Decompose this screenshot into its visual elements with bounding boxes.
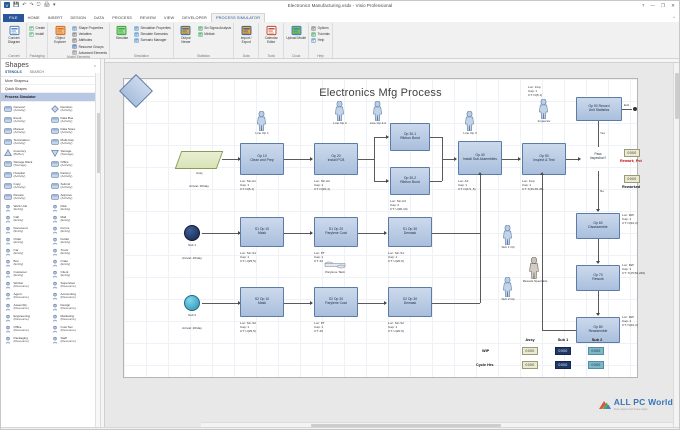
- activity-s1op20[interactable]: S1 Op 20 Parylene Coat: [314, 217, 358, 247]
- resource-groups-button[interactable]: Resource Groups: [72, 44, 107, 49]
- connector: [358, 303, 386, 304]
- options-button[interactable]: Options: [311, 26, 330, 31]
- connector: [598, 171, 599, 211]
- folder-entity-icon: [51, 237, 59, 246]
- activity-s2op20[interactable]: S2 Op 20 Parylene Coat: [314, 287, 358, 317]
- ribbon-tab-process-simulator[interactable]: PROCESS SIMULATOR: [211, 13, 265, 22]
- ribbon-tab-home[interactable]: HOME: [24, 14, 44, 22]
- stencil-item-storage-rack[interactable]: Storage Rack(Storage): [4, 159, 51, 170]
- resource-inspector[interactable]: [538, 99, 549, 120]
- window-title: Electronics Manufacturing.vsdx - Visio P…: [1, 3, 679, 8]
- stencil-item-agent-resource[interactable]: Agent(Resource): [4, 291, 51, 302]
- drawing-page[interactable]: Electronics Mfg Process Assy Arrival: 20…: [123, 78, 638, 378]
- object-explorer-label: Object Explorer: [50, 37, 70, 44]
- connector: [542, 330, 576, 331]
- ribbon-tab-strip: FILEHOMEINSERTDESIGNDATAPROCESSREVIEWVIE…: [1, 13, 679, 22]
- engineering-resource-icon: [4, 314, 12, 323]
- shapes-scrollbar[interactable]: [95, 73, 100, 427]
- packaging-resource-icon: [4, 336, 12, 345]
- vertical-ruler: [101, 59, 105, 427]
- stencil-item-forms-entity[interactable]: Forms(Entity): [51, 225, 98, 236]
- staff-resource-icon: [51, 336, 59, 345]
- stencil-item-approve-activity[interactable]: Approve(Activity): [51, 192, 98, 203]
- help-button[interactable]: Help: [311, 38, 330, 43]
- stencil-item-folder-entity[interactable]: Folder(Entity): [51, 236, 98, 247]
- agent-resource-icon: [4, 292, 12, 301]
- exit-point-1: [633, 107, 637, 111]
- ribbon-small-buttons: OptionsTutorialsHelp: [311, 24, 330, 43]
- ribbon-group-packaging: CreateInstallPackaging: [27, 23, 48, 58]
- ribbon-group-label: Data: [236, 54, 256, 59]
- source-sub1-shape[interactable]: [184, 225, 200, 241]
- stencil-item-call-entity[interactable]: Call(Entity): [4, 214, 51, 225]
- stencil-item-storage[interactable]: Storage(Storage): [51, 148, 98, 159]
- ribbon-tab-data[interactable]: DATA: [90, 14, 108, 22]
- manual-activity-icon: [4, 127, 12, 136]
- stencil-item-design-resource[interactable]: Design(Resource): [51, 302, 98, 313]
- metrics-cyclehrs-sub1: 0000: [555, 361, 571, 369]
- stencil-item-crate-entity[interactable]: Crate(Entity): [51, 258, 98, 269]
- metrics-row-wip-label: WIP: [482, 349, 489, 353]
- stencil-item-supervisor-resource[interactable]: Supervisor(Resource): [51, 280, 98, 291]
- connector: [480, 233, 481, 303]
- stencil-item-customer-entity[interactable]: Customer(Entity): [4, 269, 51, 280]
- ribbon-tab-file[interactable]: FILE: [3, 14, 24, 22]
- ribbon-group-label: Simulation: [112, 54, 171, 59]
- shapes-panel-header: Shapes ×: [1, 59, 100, 70]
- ribbon-group-model-elements: Object ExplorerShape PropertiesVariables…: [48, 23, 110, 58]
- stencil-item-engineering-resource[interactable]: Engineering(Resource): [4, 313, 51, 324]
- resource-line-op-3-label: Line Op 3: [450, 131, 490, 135]
- stencil-item-termination-activity[interactable]: Termination(Activity): [4, 137, 51, 148]
- stencil-item-data-store-activity[interactable]: Data Store(Activity): [51, 126, 98, 137]
- calendar-button[interactable]: Calendar Editor: [261, 24, 281, 44]
- stencil-item-office-resource[interactable]: Office(Resource): [4, 324, 51, 335]
- calendar-label: Calendar Editor: [261, 37, 281, 44]
- connector-arrow: [310, 231, 313, 235]
- ribbon-tab-review[interactable]: REVIEW: [136, 14, 160, 22]
- resource-inspector-label: Inspector: [524, 119, 564, 123]
- stencil-item-review-activity[interactable]: Review(Activity): [4, 192, 51, 203]
- ribbon-tab-design[interactable]: DESIGN: [67, 14, 91, 22]
- ribbon-tab-view[interactable]: VIEW: [160, 14, 178, 22]
- connector: [358, 233, 386, 234]
- tutorials-button[interactable]: Tutorials: [311, 32, 330, 37]
- minitab-button[interactable]: Minitab: [198, 32, 231, 37]
- approve-activity-icon: [51, 193, 59, 202]
- stencil-item-mail-entity[interactable]: Mail(Entity): [51, 214, 98, 225]
- connector: [430, 181, 442, 182]
- activity-op80-line2: Reassemble: [589, 329, 608, 333]
- activity-op20-props: Loc: Stn A2 Cap: 1 CT: N(40,4): [314, 179, 330, 191]
- termination-activity-icon: [4, 138, 12, 147]
- review-activity-icon: [4, 193, 12, 202]
- activity-op40-line2: Install Sub Assemblies: [463, 157, 497, 161]
- source-sub2-shape[interactable]: [184, 295, 200, 311]
- source-assy-arrival: Arrival: 20/day: [164, 184, 234, 188]
- connector-arrow: [596, 261, 600, 264]
- activity-s1op30[interactable]: S1 Op 30 Demask: [388, 217, 432, 247]
- convert-diagram-button[interactable]: Convert Diagram: [4, 24, 24, 44]
- activity-op70[interactable]: Op 70 Rework: [576, 265, 620, 291]
- resource-rework-specialist-label: Rework Specialist: [514, 279, 556, 283]
- activity-op90-line2: Unit Statistics: [589, 108, 610, 112]
- connector: [374, 137, 375, 181]
- connector-arrow: [596, 313, 600, 316]
- stencil-item-office-activity[interactable]: Office(Activity): [51, 159, 98, 170]
- simulation-properties-button[interactable]: Simulation Properties: [134, 26, 171, 31]
- parylene-tank-shape[interactable]: [324, 261, 346, 269]
- source-sub1-arrival: Arrival: 20/day: [157, 256, 227, 260]
- activity-op60[interactable]: Op 60 Disassemble: [576, 213, 620, 239]
- event-activity-icon: [4, 116, 12, 125]
- stencil-item-client-entity[interactable]: Client(Entity): [51, 269, 98, 280]
- close-button[interactable]: ✕: [671, 3, 675, 9]
- connector: [358, 159, 374, 160]
- resource-sub-2-op[interactable]: [502, 277, 513, 298]
- decision-no-label: No: [600, 189, 604, 193]
- connector: [430, 137, 442, 138]
- connector: [598, 291, 599, 315]
- connector-arrow: [386, 135, 389, 139]
- hospital-activity-icon: [4, 171, 12, 180]
- shape-properties-button[interactable]: Shape Properties: [72, 26, 107, 31]
- ribbon-small-buttons: Six Sigma AnalysisMinitab: [198, 24, 231, 37]
- shapes-panel-title: Shapes: [5, 62, 29, 69]
- ribbon-small-buttons: Shape PropertiesVariablesAttributesResou…: [72, 24, 107, 55]
- stencil-item-assembly-resource[interactable]: Assembly(Resource): [4, 302, 51, 313]
- canvas-vscroll-thumb[interactable]: [675, 73, 679, 119]
- stencil-row-process-simulator[interactable]: Process Simulator: [1, 93, 100, 101]
- canvas-vertical-scrollbar[interactable]: [673, 63, 679, 427]
- mail-entity-icon: [51, 215, 59, 224]
- connector-arrow: [518, 157, 521, 161]
- horizontal-ruler: [101, 59, 679, 63]
- decision-label: Pass Inspection?: [582, 153, 614, 160]
- activity-s2op10-line2: Mask: [258, 301, 266, 305]
- car-entity-icon: [4, 248, 12, 257]
- activity-op20-line2: Install PCB: [328, 158, 345, 162]
- activity-s2op10[interactable]: S2 Op 10 Mask: [240, 287, 284, 317]
- stencil-grid[interactable]: General(Activity)Decision(Activity)Event…: [1, 102, 100, 346]
- activity-op30-2[interactable]: Op 30-2 Ribbon Bond: [390, 167, 430, 195]
- watermark: ALL PC World Free Apps Get Free Apps: [598, 397, 673, 411]
- data-store-activity-icon: [51, 127, 59, 136]
- ribbon-small-buttons: CreateInstall: [29, 24, 45, 37]
- stencil-item-manual-activity[interactable]: Manual(Activity): [4, 126, 51, 137]
- stencil-item-accounting-resource[interactable]: Accounting(Resource): [51, 291, 98, 302]
- metrics-cyclehrs-sub2: 0000: [588, 361, 604, 369]
- connector-arrow: [310, 157, 313, 161]
- resource-line-op-2-label: Line Op 2: [320, 121, 360, 125]
- storage-icon: [51, 149, 59, 158]
- attributes-button[interactable]: Attributes: [72, 38, 107, 43]
- title-bar: V 💾 ↶ ↷ ⎋ 🖨 ▾ Electronics Manufacturing.…: [1, 1, 679, 13]
- box-entity-icon: [4, 259, 12, 268]
- stencil-item-work-unit-entity[interactable]: Work Unit(Entity): [4, 203, 51, 214]
- work-area: Shapes × STENCILSSEARCH More Shapes ▸Qui…: [1, 59, 679, 427]
- data-bus-activity-icon: [51, 116, 59, 125]
- connector: [542, 175, 543, 330]
- stencil-item-decision-activity[interactable]: Decision(Activity): [51, 104, 98, 115]
- source-assy-label: Assy: [172, 171, 227, 175]
- copy-activity-icon: [4, 182, 12, 191]
- activity-s2op20-line2: Parylene Coat: [325, 301, 347, 305]
- resource-line-op-2[interactable]: [334, 101, 345, 122]
- ribbon-group-convert: Convert DiagramConvert: [2, 23, 27, 58]
- stencil-item-inventory-buffer[interactable]: Inventory(Buffer): [4, 148, 51, 159]
- activity-op70-line2: Rework: [592, 277, 604, 281]
- stencil-item-truck-entity[interactable]: Truck(Entity): [51, 247, 98, 258]
- connector: [284, 303, 312, 304]
- stencil-item-copy-activity[interactable]: Copy(Activity): [4, 181, 51, 192]
- assembly-resource-icon: [4, 303, 12, 312]
- office-resource-icon: [4, 325, 12, 334]
- stencil-item-worker-resource[interactable]: Worker(Resource): [4, 280, 51, 291]
- play-label: Simulate: [116, 37, 128, 41]
- activity-op90-props: Loc: Insp Cap: 1 CT: N(5,1): [528, 85, 542, 97]
- exit-label-1: Exit: [624, 103, 629, 107]
- activity-op20[interactable]: Op 20 Install PCB: [314, 143, 358, 175]
- help-button[interactable]: ?: [642, 3, 645, 9]
- stencil-item-submit-activity[interactable]: Submit(Activity): [51, 181, 98, 192]
- restore-button[interactable]: ❐: [661, 3, 665, 9]
- ribbon-group-cloud: Upload ModelCloud: [284, 23, 309, 58]
- scenario-manager-button[interactable]: Scenario Manager: [134, 38, 171, 43]
- import-export-label: Import / Export: [236, 37, 256, 44]
- resource-rework-specialist[interactable]: [528, 257, 540, 280]
- play-button[interactable]: Simulate: [112, 24, 132, 41]
- stencil-item-car-entity[interactable]: Car(Entity): [4, 247, 51, 258]
- resource-sub-1-op[interactable]: [502, 225, 513, 246]
- shapes-panel-tabs[interactable]: STENCILSSEARCH: [1, 70, 100, 77]
- parylene-tank-label: Parylene Tank: [310, 270, 360, 274]
- marketing-resource-icon: [51, 314, 59, 323]
- metrics-row-cyclehrs-label: Cycle Hrs: [476, 363, 494, 367]
- decision-yes-label: Yes: [600, 131, 605, 135]
- ribbon-group-label: Packaging: [29, 54, 45, 59]
- connector: [432, 303, 480, 304]
- connector: [598, 239, 599, 263]
- create-package-button[interactable]: Create: [29, 26, 45, 31]
- truck-entity-icon: [51, 248, 59, 257]
- connector-arrow: [454, 157, 457, 161]
- ribbon-tabs[interactable]: FILEHOMEINSERTDESIGNDATAPROCESSREVIEWVIE…: [1, 13, 679, 22]
- kpi-reworked-label: Reworked: [622, 185, 640, 189]
- metrics-cyclehrs-assy: 0000: [522, 361, 538, 369]
- install-package-button[interactable]: Install: [29, 32, 45, 37]
- metrics-col-sub2: Sub 2: [586, 337, 608, 342]
- resource-line-op-3[interactable]: [464, 111, 475, 132]
- resource-line-op-1-label: Line Op 1: [242, 131, 282, 135]
- visio-window: V 💾 ↶ ↷ ⎋ 🖨 ▾ Electronics Manufacturing.…: [0, 0, 680, 430]
- crate-entity-icon: [51, 259, 59, 268]
- ribbon-group-label: Tools: [261, 54, 281, 59]
- activity-op30-1[interactable]: Op 30-1 Ribbon Bond: [390, 123, 430, 151]
- connector-arrow: [310, 301, 313, 305]
- activity-op70-props: Loc: RW Cap: 1 CT: T(15,50,240): [622, 263, 645, 275]
- activity-op10[interactable]: Op 10 Clean and Prep: [240, 143, 284, 175]
- stencil-item-packaging-resource[interactable]: Packaging(Resource): [4, 335, 51, 346]
- customer-entity-icon: [4, 270, 12, 279]
- accounting-resource-icon: [51, 292, 59, 301]
- activity-s1op10[interactable]: S1 Op 10 Mask: [240, 217, 284, 247]
- activity-s1op10-props: Loc: Stn S1 Cap: 1 CT: U(25,5): [240, 251, 256, 263]
- decision-pass-inspection[interactable]: [119, 74, 153, 108]
- six-sigma-button[interactable]: Six Sigma Analysis: [198, 26, 231, 31]
- metrics-wip-assy: 0000: [522, 347, 538, 355]
- ribbon-group-data: Import / ExportData: [234, 23, 259, 58]
- connector: [432, 233, 480, 234]
- stencil-item-general-activity[interactable]: General(Activity): [4, 104, 51, 115]
- convert-diagram-label: Convert Diagram: [4, 37, 24, 44]
- order-entity-icon: [4, 237, 12, 246]
- stencil-item-box-entity[interactable]: Box(Entity): [4, 258, 51, 269]
- activity-s1op20-line2: Parylene Coat: [325, 231, 347, 235]
- activity-s2op30-line2: Demask: [404, 301, 416, 305]
- allpcworld-logo-icon: [598, 399, 612, 410]
- shapes-tab-search[interactable]: SEARCH: [30, 70, 44, 74]
- shapes-scrollbar-thumb[interactable]: [97, 113, 100, 173]
- worker-resource-icon: [4, 281, 12, 290]
- metrics-wip-sub2: 0000: [588, 347, 604, 355]
- ribbon-tab-insert[interactable]: INSERT: [44, 14, 67, 22]
- source-assy-shape[interactable]: [175, 151, 224, 169]
- activity-s2op30[interactable]: S2 Op 30 Demask: [388, 287, 432, 317]
- connector: [284, 233, 312, 234]
- activity-op30-1-line2: Ribbon Bond: [400, 136, 420, 140]
- connector: [480, 175, 481, 233]
- output-viewer-button[interactable]: Output Viewer: [176, 24, 196, 44]
- close-icon[interactable]: ×: [94, 63, 96, 68]
- stencil-item-factory-activity[interactable]: Factory(Activity): [51, 170, 98, 181]
- stencil-item-cust-svc-resource[interactable]: Cust Svc(Resource): [51, 324, 98, 335]
- inventory-buffer-icon: [4, 149, 12, 158]
- connector-arrow: [578, 157, 581, 161]
- forms-entity-icon: [51, 226, 59, 235]
- stencil-item-disk-entity[interactable]: Disk(Entity): [51, 203, 98, 214]
- stencil-item-document-entity[interactable]: Document(Entity): [4, 225, 51, 236]
- connector: [202, 233, 240, 234]
- disk-entity-icon: [51, 204, 59, 213]
- activity-op80-props: Loc: RW Cap: 1 CT: N(10,2): [622, 315, 638, 327]
- activity-op90[interactable]: Op 90 Record Unit Statistics: [576, 97, 622, 121]
- connector: [284, 159, 312, 160]
- multi-cap-activity-icon: [51, 138, 59, 147]
- source-sub1-label: Sub 1: [172, 243, 212, 247]
- activity-op10-props: Loc: Stn A1 Cap: 1 CT: N(5,1): [240, 179, 256, 191]
- stencil-item-event-activity[interactable]: Event(Activity): [4, 115, 51, 126]
- call-entity-icon: [4, 215, 12, 224]
- resource-line-op-2-2[interactable]: [372, 101, 383, 122]
- stencil-item-staff-resource[interactable]: Staff(Resource): [51, 335, 98, 346]
- canvas[interactable]: Electronics Mfg Process Assy Arrival: 20…: [101, 59, 679, 427]
- activity-s1op30-line2: Demask: [404, 231, 416, 235]
- stencil-item-order-entity[interactable]: Order(Entity): [4, 236, 51, 247]
- connector-arrow: [384, 231, 387, 235]
- stencil-item-multi-cap-activity[interactable]: Multi-Cap(Activity): [51, 137, 98, 148]
- import-export-button[interactable]: Import / Export: [236, 24, 256, 44]
- document-entity-icon: [4, 226, 12, 235]
- activity-op50[interactable]: Op 50 Inspect & Test: [522, 143, 566, 175]
- office-activity-icon: [51, 160, 59, 169]
- variables-button[interactable]: Variables: [72, 32, 107, 37]
- activity-op40[interactable]: Op 40 Install Sub Assemblies: [458, 141, 502, 175]
- connector-arrow: [596, 209, 600, 212]
- stencil-item-marketing-resource[interactable]: Marketing(Resource): [51, 313, 98, 324]
- ribbon-group-simulation: SimulateSimulation PropertiesSimulate Sc…: [110, 23, 174, 58]
- ribbon-tab-process[interactable]: PROCESS: [108, 14, 136, 22]
- simulate-scenarios-button[interactable]: Simulate Scenarios: [134, 32, 171, 37]
- activity-s1op30-props: Loc: Stn S1 Cap: 1 CT: U(20,5): [388, 251, 404, 263]
- minimize-button[interactable]: —: [650, 3, 655, 9]
- ribbon-group-help: OptionsTutorialsHelpHelp: [309, 23, 333, 58]
- stencil-item-data-bus-activity[interactable]: Data Bus(Activity): [51, 115, 98, 126]
- watermark-title: ALL PC World: [614, 397, 673, 407]
- ribbon-group-tools: Calendar EditorTools: [259, 23, 284, 58]
- activity-op30-2-line2: Ribbon Bond: [400, 180, 420, 184]
- submit-activity-icon: [51, 182, 59, 191]
- supervisor-resource-icon: [51, 281, 59, 290]
- activity-op50-line2: Inspect & Test: [533, 158, 554, 162]
- metrics-wip-sub1: 0000: [555, 347, 571, 355]
- connector-arrow: [540, 172, 544, 175]
- window-controls[interactable]: ? — ❐ ✕: [642, 3, 675, 9]
- storage-rack-icon: [4, 160, 12, 169]
- output-viewer-label: Output Viewer: [176, 37, 196, 44]
- resource-line-op-1[interactable]: [256, 111, 267, 132]
- resource-sub-1-op-label: Sub 1 Op: [488, 245, 528, 249]
- ribbon-group-statistics: Output ViewerSix Sigma AnalysisMinitabSt…: [174, 23, 234, 58]
- stencil-item-hospital-activity[interactable]: Hospital(Activity): [4, 170, 51, 181]
- kpi-rework-pct-label: Rework_Pct: [620, 159, 642, 163]
- cust-svc-resource-icon: [51, 325, 59, 334]
- stencil-list[interactable]: More Shapes ▸Quick ShapesProcess Simulat…: [1, 77, 100, 102]
- activity-s2op10-props: Loc: Stn S2 Cap: 1 CT: U(25,5): [240, 321, 256, 333]
- ribbon-group-label: Cloud: [286, 54, 306, 59]
- activity-op50-props: Loc: Insp Cap: 1 CT: T(30,35,45): [522, 179, 543, 191]
- watermark-subtitle: Free Apps Get Free Apps: [614, 407, 673, 411]
- decision-activity-icon: [51, 105, 59, 114]
- ribbon-small-buttons: Simulation PropertiesSimulate ScenariosS…: [134, 24, 171, 43]
- ribbon-collapse-button[interactable]: ^: [673, 15, 675, 20]
- connector-arrow: [384, 301, 387, 305]
- activity-s1op10-line2: Mask: [258, 231, 266, 235]
- source-sub2-arrival: Arrival: 20/day: [157, 326, 227, 330]
- page-title: Electronics Mfg Process: [124, 87, 637, 99]
- object-explorer-button[interactable]: Object Explorer: [50, 24, 70, 44]
- kpi-rework-pct-value: 0000: [624, 149, 640, 157]
- resource-line-op-2-2-label: Line Op 2-2: [358, 121, 398, 125]
- upload-cloud-button[interactable]: Upload Model: [286, 24, 306, 41]
- stencil-row-quick-shapes[interactable]: Quick Shapes: [1, 85, 100, 93]
- factory-activity-icon: [51, 171, 59, 180]
- activity-op30-props: Loc: Stn A3 Cap: 2 CT: U(90,10): [390, 199, 408, 211]
- ribbon-body: Convert DiagramConvertCreateInstallPacka…: [1, 22, 679, 59]
- design-resource-icon: [51, 303, 59, 312]
- connector-arrow: [386, 179, 389, 183]
- ribbon-group-label: Convert: [4, 54, 24, 59]
- activity-s2op20-props: Loc: PT Cap: 1 CT: 20: [314, 321, 325, 333]
- metrics-col-assy: Assy: [520, 337, 540, 342]
- ribbon-tab-developer[interactable]: DEVELOPER: [178, 14, 211, 22]
- upload-cloud-label: Upload Model: [286, 37, 306, 41]
- shapes-tab-stencils[interactable]: STENCILS: [5, 70, 22, 74]
- activity-s2op30-props: Loc: Stn S2 Cap: 1 CT: U(20,5): [388, 321, 404, 333]
- stencil-row-more-shapes[interactable]: More Shapes ▸: [1, 77, 100, 85]
- kpi-reworked-value: 0000: [624, 175, 640, 183]
- connector: [622, 109, 632, 110]
